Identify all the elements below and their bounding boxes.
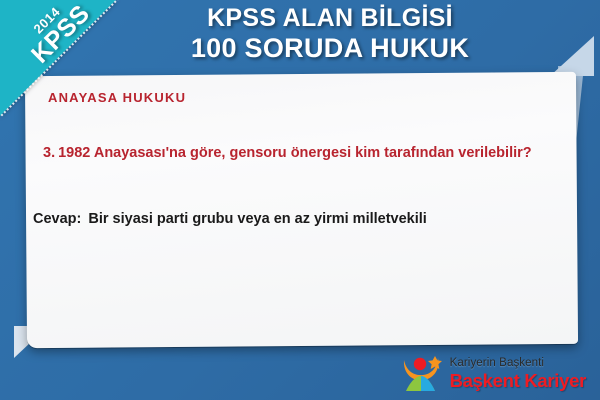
brand-tagline: Kariyerin Başkenti	[450, 358, 586, 370]
title-line-primary: KPSS ALAN BİLGİSİ	[120, 4, 540, 33]
answer-label: Cevap:	[33, 211, 81, 227]
brand-logo-text: Kariyerin Başkenti Başkent Kariyer	[450, 358, 586, 390]
title-line-secondary: 100 SORUDA HUKUK	[120, 33, 540, 64]
person-sunburst-icon	[401, 355, 445, 393]
slide-title: KPSS ALAN BİLGİSİ 100 SORUDA HUKUK	[120, 4, 540, 64]
brand-logo[interactable]: Kariyerin Başkenti Başkent Kariyer	[401, 354, 586, 394]
decorative-fold-top-right	[550, 36, 594, 76]
brand-name: Başkent Kariyer	[450, 372, 586, 391]
question-number: 3.	[43, 145, 55, 161]
answer-block: Cevap:Bir siyasi parti grubu veya en az …	[33, 209, 573, 229]
question-block: 3.1982 Anayasası'na göre, gensoru önerge…	[43, 142, 563, 164]
corner-ribbon-badge: 2014 KPSS	[0, 0, 116, 116]
question-text: 1982 Anayasası'na göre, gensoru önergesi…	[58, 145, 532, 161]
answer-text: Bir siyasi parti grubu veya en az yirmi …	[88, 211, 426, 227]
slide-canvas: KPSS ALAN BİLGİSİ 100 SORUDA HUKUK ANAYA…	[0, 0, 600, 400]
